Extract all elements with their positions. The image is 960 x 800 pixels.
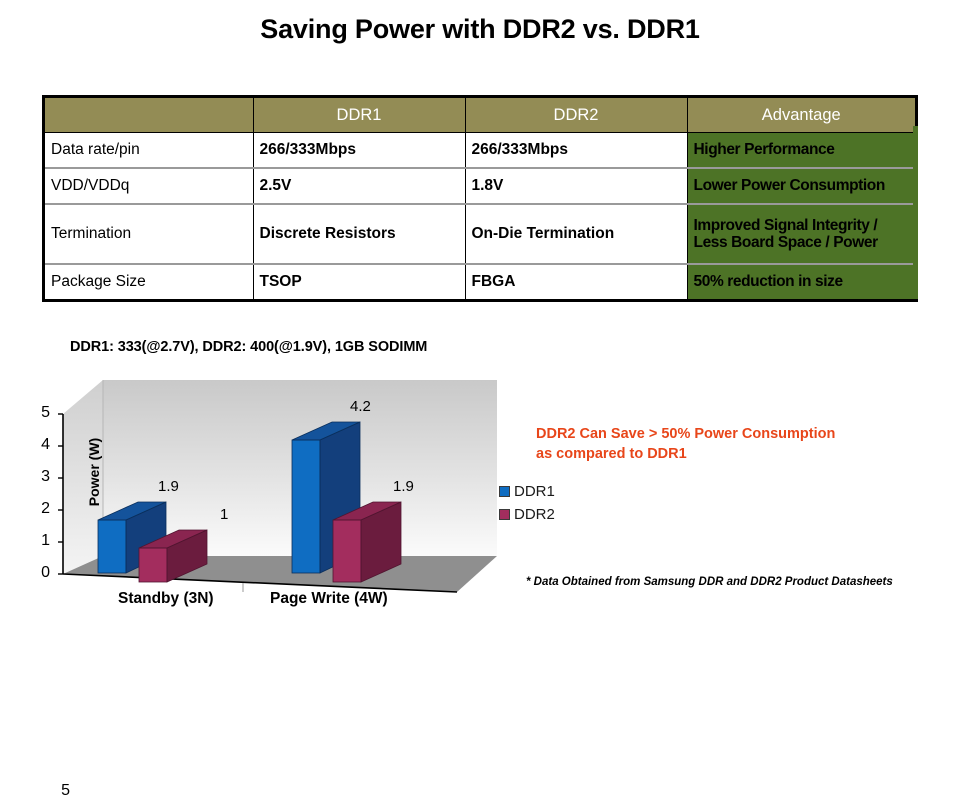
y-tick-label-2: 2 [28,500,50,518]
advantage-text-line2: Less Board Space / Power [694,234,878,251]
data-label-ddr1-pagewrite: 4.2 [350,398,371,415]
footnote: * Data Obtained from Samsung DDR and DDR… [526,576,893,588]
x-axis-label-pagewrite: Page Write (4W) [270,590,388,608]
table-header-ddr2: DDR2 [465,98,687,133]
cell-advantage-vdd: Lower Power Consumption [687,168,915,204]
advantage-text-line1: Higher Performance [694,141,835,158]
callout-line1: DDR2 Can Save > 50% Power Consumption [536,426,835,442]
row-label-termination: Termination [45,204,253,264]
advantage-text-line1: Improved Signal Integrity / [694,217,878,234]
advantage-column-bleed [913,126,918,299]
table-header-blank [45,98,253,133]
y-tick-label-1: 1 [28,532,50,550]
chart-legend: DDR1 DDR2 [499,481,555,527]
cell-ddr2-vdd: 1.8V [465,168,687,204]
cell-ddr2-data-rate: 266/333Mbps [465,133,687,169]
advantage-text-line1: Lower Power Consumption [694,177,885,194]
data-label-ddr2-standby: 1 [220,506,228,523]
legend-swatch-ddr2-icon [499,509,510,520]
table-row: Termination Discrete Resistors On-Die Te… [45,204,915,264]
legend-item-ddr2: DDR2 [499,504,555,524]
row-label-vdd: VDD/VDDq [45,168,253,204]
legend-label-ddr1: DDR1 [514,483,555,500]
y-tick-label-0: 0 [28,564,50,582]
table-row: VDD/VDDq 2.5V 1.8V Lower Power Consumpti… [45,168,915,204]
y-axis-title: Power (W) [86,412,102,532]
row-label-package-size: Package Size [45,264,253,299]
cell-ddr2-termination: On-Die Termination [465,204,687,264]
y-tick-label-3: 3 [28,468,50,486]
cell-advantage-data-rate: Higher Performance [687,133,915,169]
table-header-row: DDR1 DDR2 Advantage [45,98,915,133]
y-tick-5: 5 [48,782,70,800]
y-tick-label-5: 5 [28,404,50,422]
cell-ddr1-vdd: 2.5V [253,168,465,204]
chart-caption: DDR1: 333(@2.7V), DDR2: 400(@1.9V), 1GB … [70,339,427,355]
legend-label-ddr2: DDR2 [514,506,555,523]
legend-swatch-ddr1-icon [499,486,510,497]
power-bar-chart: Power (W) 5 [40,378,510,610]
callout-text: DDR2 Can Save > 50% Power Consumption as… [536,424,936,464]
comparison-table: DDR1 DDR2 Advantage Data rate/pin 266/33… [42,95,918,302]
x-axis-label-standby: Standby (3N) [118,590,214,608]
cell-advantage-termination: Improved Signal Integrity / Less Board S… [687,204,915,264]
cell-ddr1-package-size: TSOP [253,264,465,299]
row-label-data-rate: Data rate/pin [45,133,253,169]
y-tick-label-4: 4 [28,436,50,454]
legend-item-ddr1: DDR1 [499,481,555,501]
table-row: Package Size TSOP FBGA 50% reduction in … [45,264,915,299]
cell-ddr2-package-size: FBGA [465,264,687,299]
advantage-text-line1: 50% reduction in size [694,273,843,290]
table-row: Data rate/pin 266/333Mbps 266/333Mbps Hi… [45,133,915,169]
cell-ddr1-data-rate: 266/333Mbps [253,133,465,169]
table-header-advantage: Advantage [687,98,915,133]
data-label-ddr2-pagewrite: 1.9 [393,478,414,495]
callout-line2: as compared to DDR1 [536,446,687,462]
page-title: Saving Power with DDR2 vs. DDR1 [0,14,960,45]
table-header-ddr1: DDR1 [253,98,465,133]
cell-advantage-package-size: 50% reduction in size [687,264,915,299]
cell-ddr1-termination: Discrete Resistors [253,204,465,264]
chart-canvas [40,378,510,610]
data-label-ddr1-standby: 1.9 [158,478,179,495]
